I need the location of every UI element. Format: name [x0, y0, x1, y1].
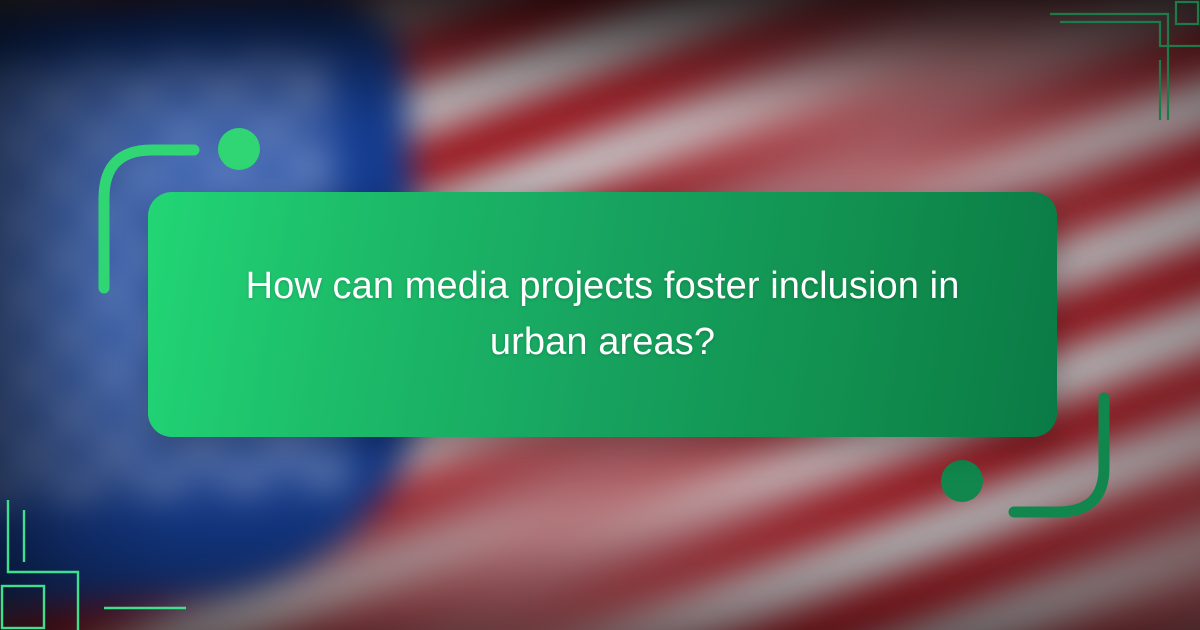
question-text: How can media projects foster inclusion … [148, 259, 1057, 369]
question-card: How can media projects foster inclusion … [148, 192, 1057, 437]
poster-canvas: How can media projects foster inclusion … [0, 0, 1200, 630]
